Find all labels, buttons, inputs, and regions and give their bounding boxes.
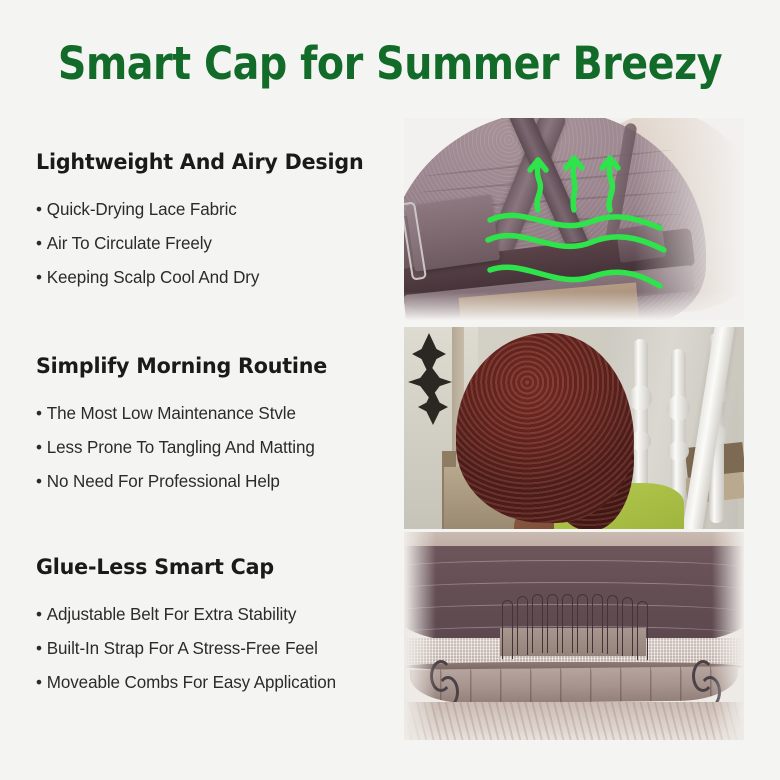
feature-section-lightweight: Lightweight And Airy Design •Quick-Dryin… <box>36 150 396 294</box>
stitch-wave-line <box>404 560 744 577</box>
bullet-icon: • <box>36 604 42 624</box>
page-title: Smart Cap for Summer Breezy <box>47 38 733 90</box>
list-item-label: Built-In Strap For A Stress-Free Feel <box>47 638 318 658</box>
list-item-label: Less Prone To Tangling And Matting <box>47 437 315 457</box>
bullet-icon: • <box>36 199 42 219</box>
photo-edge-fade <box>404 532 436 740</box>
comb-tooth-icon <box>637 601 648 660</box>
comb-tooth-icon <box>502 600 513 659</box>
photo-edge-fade <box>712 532 744 740</box>
comb-tooth-icon <box>547 594 558 653</box>
list-item-label: Keeping Scalp Cool And Dry <box>47 267 260 287</box>
list-item: •Less Prone To Tangling And Matting <box>36 430 389 464</box>
bullet-icon: • <box>36 233 42 253</box>
list-item-label: Quick-Drying Lace Fabric <box>47 199 237 219</box>
bullet-icon: • <box>36 267 42 287</box>
bullet-icon: • <box>36 471 42 491</box>
list-item-label: The Most Low Maintenance Stvle <box>47 403 296 423</box>
airflow-wave-icon <box>490 267 660 286</box>
list-item: •Air To Circulate Freely <box>36 226 389 260</box>
moveable-comb-row <box>502 594 648 654</box>
list-item: •Moveable Combs For Easy Application <box>36 665 389 699</box>
feature-bullet-list: •Quick-Drying Lace Fabric •Air To Circul… <box>36 192 396 294</box>
model-wig-hair <box>456 333 634 523</box>
comb-tooth-icon <box>577 594 588 653</box>
list-item-label: Air To Circulate Freely <box>47 233 212 253</box>
comb-tooth-icon <box>607 595 618 654</box>
model-wearing-wig-photo <box>404 327 744 529</box>
airflow-wave-icon <box>490 215 660 228</box>
feature-heading: Simplify Morning Routine <box>36 354 382 380</box>
comb-tooth-icon <box>532 594 543 653</box>
airflow-overlay <box>404 118 744 320</box>
bullet-icon: • <box>36 672 42 692</box>
comb-tooth-icon <box>592 594 603 653</box>
list-item-label: No Need For Professional Help <box>47 471 280 491</box>
airflow-arrow-icon <box>609 158 612 210</box>
list-item-label: Adjustable Belt For Extra Stability <box>47 604 296 624</box>
bullet-icon: • <box>36 437 42 457</box>
feature-section-glueless: Glue-Less Smart Cap •Adjustable Belt For… <box>36 555 396 699</box>
cap-interior-combs-photo <box>404 532 744 740</box>
comb-tooth-icon <box>562 594 573 653</box>
comb-tooth-icon <box>517 596 528 655</box>
lace-cap-airflow-photo <box>404 118 744 320</box>
list-item: •Adjustable Belt For Extra Stability <box>36 597 389 631</box>
adjustable-elastic-band <box>410 666 738 703</box>
list-item: •The Most Low Maintenance Stvle <box>36 396 389 430</box>
list-item: •No Need For Professional Help <box>36 464 389 498</box>
airflow-wave-icon <box>488 236 664 250</box>
list-item: •Keeping Scalp Cool And Dry <box>36 260 389 294</box>
airflow-arrow-icon <box>537 160 540 210</box>
list-item: •Built-In Strap For A Stress-Free Feel <box>36 631 389 665</box>
cap-bottom-lace <box>404 702 744 740</box>
infographic-page: Smart Cap for Summer Breezy Lightweight … <box>0 0 780 780</box>
list-item: •Quick-Drying Lace Fabric <box>36 192 389 226</box>
bullet-icon: • <box>36 638 42 658</box>
list-item-label: Moveable Combs For Easy Application <box>47 672 336 692</box>
feature-bullet-list: •The Most Low Maintenance Stvle •Less Pr… <box>36 396 396 498</box>
feature-bullet-list: •Adjustable Belt For Extra Stability •Bu… <box>36 597 396 699</box>
comb-tooth-icon <box>622 597 633 656</box>
feature-heading: Lightweight And Airy Design <box>36 150 382 176</box>
feature-section-simplify: Simplify Morning Routine •The Most Low M… <box>36 354 396 498</box>
feature-heading: Glue-Less Smart Cap <box>36 555 382 581</box>
bullet-icon: • <box>36 403 42 423</box>
airflow-arrow-icon <box>573 158 575 210</box>
